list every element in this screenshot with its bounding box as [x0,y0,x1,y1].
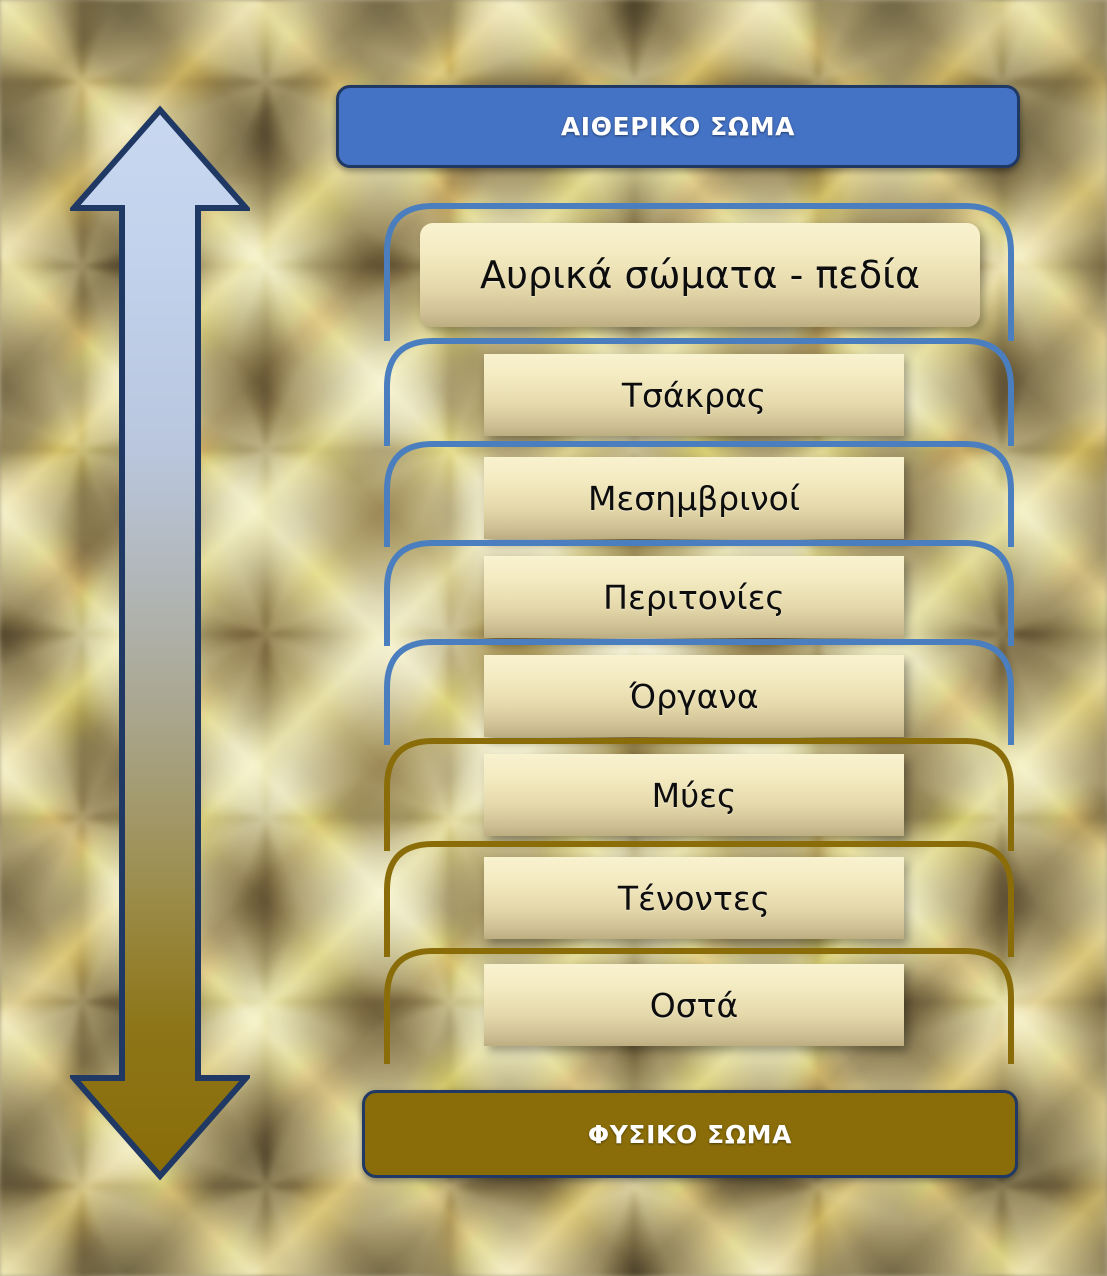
level-label: Μεσημβρινοί [588,479,800,518]
level-row: Περιτονίες [336,540,1036,648]
level-row: Οστά [336,948,1036,1066]
level-label: Μύες [652,776,737,815]
level-plate[interactable]: Μεσημβρινοί [484,457,904,539]
levels-stack: Αυρικά σώματα - πεδίαΤσάκραςΜεσημβρινοίΠ… [336,203,1036,1083]
level-row: Τένοντες [336,841,1036,959]
level-plate[interactable]: Τσάκρας [484,354,904,436]
arrow-svg [70,104,250,1182]
level-plate[interactable]: Μύες [484,754,904,836]
level-row: Τσάκρας [336,338,1036,448]
diagram-canvas: ΑΙΘΕΡΙΚΟ ΣΩΜΑ Αυρικά σώματα - πεδίαΤσάκρ… [0,0,1107,1276]
level-plate[interactable]: Όργανα [484,655,904,737]
level-row: Μεσημβρινοί [336,441,1036,549]
level-label: Αυρικά σώματα - πεδία [480,253,920,297]
level-label: Περιτονίες [603,578,785,617]
level-plate[interactable]: Τένοντες [484,857,904,939]
level-row: Μύες [336,738,1036,853]
level-plate[interactable]: Περιτονίες [484,556,904,638]
level-plate[interactable]: Οστά [484,964,904,1046]
level-label: Όργανα [629,677,758,716]
physical-body-banner[interactable]: ΦΥΣΙΚΟ ΣΩΜΑ [362,1090,1018,1178]
level-label: Τσάκρας [622,376,766,415]
level-row: Όργανα [336,639,1036,747]
level-label: Οστά [650,986,739,1025]
level-label: Τένοντες [618,879,770,918]
levels-column: ΑΙΘΕΡΙΚΟ ΣΩΜΑ Αυρικά σώματα - πεδίαΤσάκρ… [336,85,1036,1195]
level-plate[interactable]: Αυρικά σώματα - πεδία [420,223,980,327]
double-headed-vertical-arrow [70,104,250,1182]
arrow-shape [74,110,246,1176]
etheric-body-banner[interactable]: ΑΙΘΕΡΙΚΟ ΣΩΜΑ [336,85,1020,168]
level-row: Αυρικά σώματα - πεδία [336,203,1036,343]
